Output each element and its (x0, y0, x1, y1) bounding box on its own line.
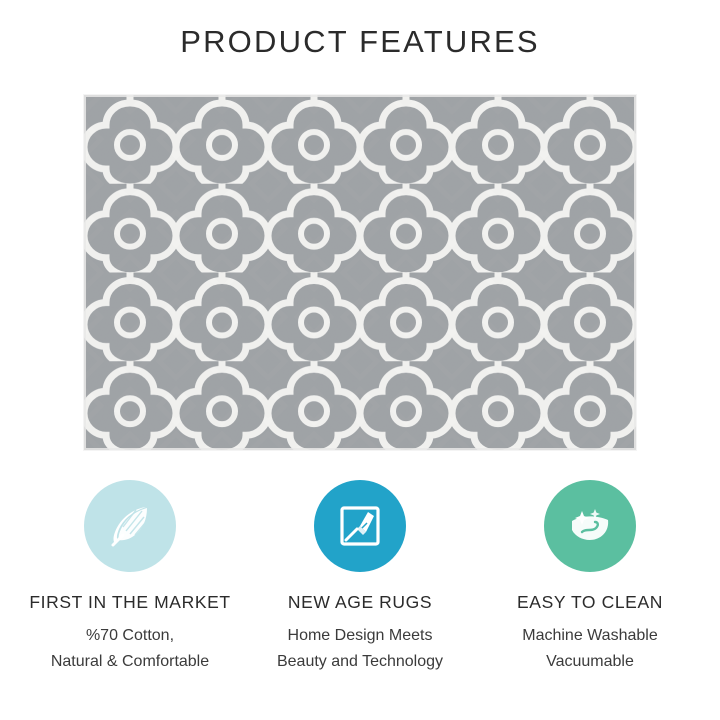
feature-new-age-rugs: NEW AGE RUGS Home Design Meets Beauty an… (248, 480, 472, 675)
feature-2-line-1: Home Design Meets (277, 623, 443, 649)
feather-icon (102, 498, 158, 554)
features-row: FIRST IN THE MARKET %70 Cotton, Natural … (0, 480, 720, 675)
feature-first-in-the-market: FIRST IN THE MARKET %70 Cotton, Natural … (18, 480, 242, 675)
product-image (84, 95, 636, 450)
washing-sparkle-icon (562, 498, 618, 554)
feature-3-line-2: Vacuumable (522, 649, 657, 675)
feature-1-icon-circle (84, 480, 176, 572)
page-title: PRODUCT FEATURES (0, 24, 720, 60)
feature-3-line-1: Machine Washable (522, 623, 657, 649)
feature-3-title: EASY TO CLEAN (517, 592, 663, 613)
pencil-ruler-design-icon (333, 499, 387, 553)
product-features-page: PRODUCT FEATURES (0, 0, 720, 720)
feature-3-description: Machine Washable Vacuumable (522, 623, 657, 675)
feature-1-line-1: %70 Cotton, (51, 623, 209, 649)
feature-1-line-2: Natural & Comfortable (51, 649, 209, 675)
feature-2-description: Home Design Meets Beauty and Technology (277, 623, 443, 675)
feature-2-line-2: Beauty and Technology (277, 649, 443, 675)
feature-3-icon-circle (544, 480, 636, 572)
rug-pattern-svg (84, 95, 636, 450)
feature-easy-to-clean: EASY TO CLEAN Machine Washable Vacuumabl… (478, 480, 702, 675)
feature-2-icon-circle (314, 480, 406, 572)
feature-1-description: %70 Cotton, Natural & Comfortable (51, 623, 209, 675)
feature-2-title: NEW AGE RUGS (288, 592, 432, 613)
feature-1-title: FIRST IN THE MARKET (29, 592, 230, 613)
